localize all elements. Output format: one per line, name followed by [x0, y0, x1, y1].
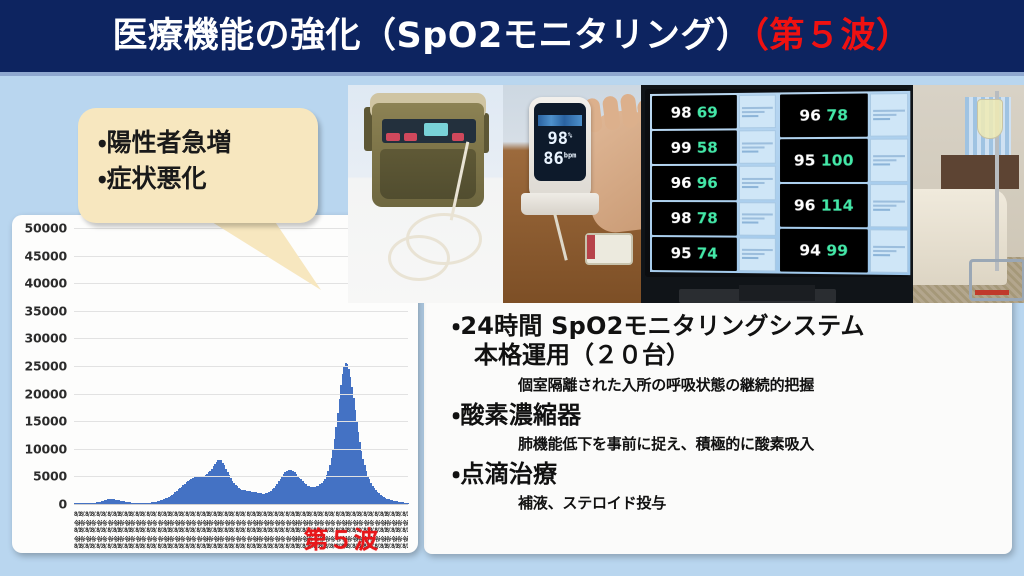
oximeter-pulse-value: 86bpm: [534, 149, 586, 169]
vitals-spo2-value: 95: [670, 245, 691, 263]
header-divider: [0, 72, 1024, 76]
measure-item: ・酸素濃縮器 肺機能低下を事前に捉え、積極的に酸素吸入: [452, 401, 1008, 453]
oximeter-dock-base: [521, 193, 599, 215]
callout-bubble-list: 陽性者急増 症状悪化: [78, 108, 318, 196]
room-desk: [941, 155, 1019, 189]
chart-gridline: [74, 504, 408, 505]
monitor-right-column: 967895100961149499: [778, 91, 910, 275]
chart-y-tick-label: 35000: [25, 303, 68, 318]
oximeter-cable: [553, 213, 568, 260]
vitals-readout: 9878: [652, 202, 737, 236]
page-title-main: 医療機能の強化（SpO2モニタリング）: [113, 16, 752, 56]
vitals-pulse-value: 78: [696, 209, 717, 227]
vitals-patient-info: [870, 93, 908, 137]
vitals-readout: 95100: [780, 139, 868, 182]
photo-care-room: [913, 85, 1024, 303]
measure-item: ・点滴治療 補液、ステロイド投与: [452, 460, 1008, 512]
cannula-tube-coil: [388, 235, 450, 281]
device-button-icon: [404, 133, 417, 141]
vitals-pulse-value: 99: [826, 241, 848, 260]
measure-title: ・点滴治療: [452, 460, 1008, 489]
callout-bubble-tail: [196, 212, 321, 290]
chart-y-tick-label: 0: [59, 497, 68, 512]
wrist-sensor-indicator-icon: [587, 235, 595, 259]
vitals-pulse-value: 58: [696, 138, 717, 156]
vitals-patient-info: [739, 202, 776, 236]
photo-vitals-monitor: 98699958969698789574 967895100961149499: [641, 85, 913, 303]
measure-detail: 肺機能低下を事前に捉え、積極的に酸素吸入: [518, 435, 1008, 453]
vitals-spo2-value: 99: [670, 139, 691, 157]
vitals-row: 9574: [652, 237, 776, 272]
vitals-row: 95100: [780, 139, 908, 182]
vitals-readout: 96114: [780, 184, 868, 227]
vitals-spo2-value: 95: [794, 151, 816, 169]
vitals-readout: 9958: [652, 131, 737, 165]
oximeter-screen: 98% 86bpm: [534, 103, 586, 181]
chart-gridline: [74, 311, 408, 312]
callout-item: 陽性者急増: [98, 125, 318, 161]
iv-drip-bag-icon: [977, 99, 1003, 139]
photo-pulse-oximeter: 98% 86bpm: [503, 85, 641, 303]
measures-list: ・24時間 SpO2モニタリングシステム 本格運用（２０台） 個室隔離された入所…: [452, 312, 1008, 519]
chart-x-label-row: 8/18/18/18/18/18/18/18/18/18/18/18/18/18…: [74, 511, 408, 519]
vitals-spo2-value: 96: [670, 174, 691, 192]
vitals-row: 9869: [652, 95, 776, 130]
chart-gridline: [74, 338, 408, 339]
vitals-row: 9878: [652, 202, 776, 236]
page-title-accent: （第５波）: [751, 16, 911, 56]
measure-title-cont: 本格運用（２０台）: [474, 341, 1008, 370]
vitals-row: 9499: [780, 229, 908, 273]
measure-title: ・酸素濃縮器: [452, 401, 1008, 430]
chart-gridline: [74, 449, 408, 450]
measure-item: ・24時間 SpO2モニタリングシステム 本格運用（２０台） 個室隔離された入所…: [452, 312, 1008, 394]
chart-y-tick-label: 20000: [25, 386, 68, 401]
plethysmograph-waveform-icon: [538, 115, 582, 126]
monitor-left-column: 98699958969698789574: [650, 92, 778, 273]
chart-y-tick-label: 25000: [25, 359, 68, 374]
vitals-row: 9678: [780, 93, 908, 137]
vitals-readout: 9696: [652, 166, 737, 200]
vitals-spo2-value: 96: [794, 196, 816, 214]
chart-y-tick-label: 45000: [25, 248, 68, 263]
callout-item: 症状悪化: [98, 161, 318, 197]
device-button-icon: [386, 133, 400, 141]
page-title: 医療機能の強化（SpO2モニタリング）（第５波）: [113, 19, 912, 54]
vitals-pulse-value: 100: [820, 151, 853, 170]
chart-gridline: [74, 421, 408, 422]
measure-detail: 個室隔離された入所の呼吸状態の継続的把握: [518, 376, 1008, 394]
chart-y-tick-label: 50000: [25, 221, 68, 236]
fifth-wave-annotation: 第５波: [304, 520, 379, 553]
vitals-patient-info: [739, 130, 776, 164]
chart-y-tick-label: 40000: [25, 276, 68, 291]
vitals-row: 9958: [652, 130, 776, 164]
vitals-row: 9696: [652, 166, 776, 200]
slide-root: 医療機能の強化（SpO2モニタリング）（第５波） 500004500040000…: [0, 0, 1024, 576]
vitals-spo2-value: 96: [799, 106, 821, 125]
vitals-spo2-value: 98: [670, 209, 691, 227]
monitor-bezel: 98699958969698789574 967895100961149499: [645, 89, 909, 277]
vitals-readout: 9574: [652, 237, 737, 271]
vitals-pulse-value: 74: [696, 245, 717, 263]
vitals-pulse-value: 78: [826, 106, 848, 125]
vitals-readout: 9869: [652, 95, 737, 129]
vitals-readout: 9678: [780, 93, 868, 137]
vitals-pulse-value: 96: [696, 174, 717, 192]
chart-gridline: [74, 394, 408, 395]
callout-bubble: 陽性者急増 症状悪化: [78, 108, 328, 288]
wheelchair-seat: [975, 290, 1009, 295]
vitals-patient-info: [739, 95, 776, 129]
chart-y-tick-label: 30000: [25, 331, 68, 346]
monitor-screen: 98699958969698789574 967895100961149499: [650, 91, 910, 275]
vitals-pulse-value: 114: [820, 196, 853, 215]
vitals-readout: 9499: [780, 229, 868, 273]
measure-title: ・24時間 SpO2モニタリングシステム: [452, 312, 1008, 341]
chart-y-tick-label: 10000: [25, 441, 68, 456]
device-button-icon: [452, 133, 464, 141]
slide-header: 医療機能の強化（SpO2モニタリング）（第５波）: [0, 0, 1024, 72]
finger: [602, 95, 621, 131]
device-lcd-icon: [424, 123, 448, 136]
vitals-patient-info: [870, 184, 908, 227]
vitals-pulse-value: 69: [696, 103, 717, 121]
vitals-patient-info: [870, 139, 908, 182]
chart-y-tick-label: 5000: [33, 469, 67, 484]
chart-gridline: [74, 476, 408, 477]
vitals-row: 96114: [780, 184, 908, 227]
oximeter-spo2-value: 98%: [534, 129, 586, 149]
photo-oxygen-concentrator: [348, 85, 503, 303]
vitals-spo2-value: 98: [670, 103, 691, 121]
vitals-patient-info: [739, 166, 776, 200]
photo-strip: 98% 86bpm 98699958969698789574 967895100…: [348, 85, 1024, 303]
chart-y-tick-label: 15000: [25, 414, 68, 429]
vitals-spo2-value: 94: [799, 241, 821, 260]
monitor-stand: [739, 285, 815, 301]
measure-detail: 補液、ステロイド投与: [518, 494, 1008, 512]
pulse-oximeter-device: 98% 86bpm: [529, 97, 591, 201]
chart-gridline: [74, 366, 408, 367]
callout-bubble-body: 陽性者急増 症状悪化: [78, 108, 318, 223]
vitals-patient-info: [870, 229, 908, 273]
vitals-patient-info: [739, 237, 776, 271]
finger: [620, 93, 639, 129]
